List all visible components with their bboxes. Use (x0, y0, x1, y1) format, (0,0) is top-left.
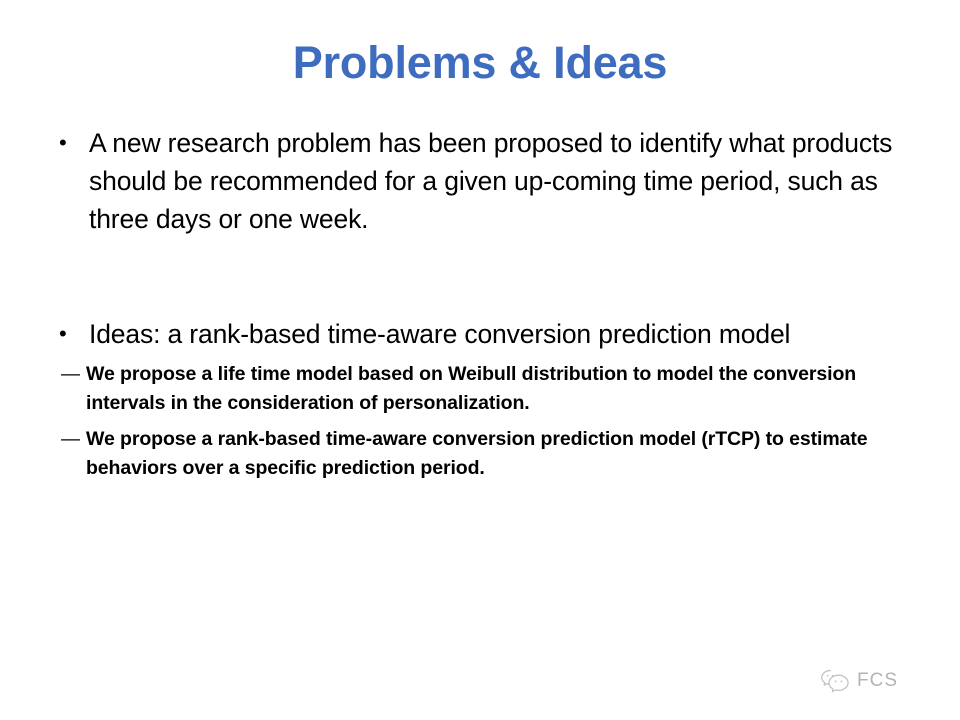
bullet-item-1: • A new research problem has been propos… (52, 124, 924, 238)
bullet-marker-icon: • (52, 124, 89, 162)
bullet-text-1: A new research problem has been proposed… (89, 124, 924, 238)
page-title: Problems & Ideas (0, 38, 960, 88)
sub-bullet-item-2: — We propose a rank-based time-aware con… (52, 425, 924, 483)
sub-bullet-text-1: We propose a life time model based on We… (86, 360, 924, 418)
sub-bullet-item-1: — We propose a life time model based on … (52, 360, 924, 418)
dash-marker-icon: — (52, 425, 86, 454)
bullet-marker-icon: • (52, 315, 89, 353)
watermark: FCS (820, 668, 898, 694)
bullet-item-2: • Ideas: a rank-based time-aware convers… (52, 315, 924, 353)
bullet-text-2: Ideas: a rank-based time-aware conversio… (89, 315, 924, 353)
bullet-content-2: Ideas: a rank-based time-aware conversio… (89, 315, 924, 353)
slide-body: • A new research problem has been propos… (52, 124, 924, 483)
sub-bullet-content-1: We propose a life time model based on We… (86, 360, 924, 418)
sub-bullet-list: — We propose a life time model based on … (52, 360, 924, 483)
sub-bullet-text-2: We propose a rank-based time-aware conve… (86, 425, 924, 483)
dash-marker-icon: — (52, 360, 86, 389)
slide-canvas: Problems & Ideas • A new research proble… (0, 0, 960, 720)
bullet-spacer (52, 238, 924, 315)
wechat-icon (820, 668, 850, 694)
watermark-label: FCS (857, 670, 898, 692)
sub-bullet-content-2: We propose a rank-based time-aware conve… (86, 425, 924, 483)
bullet-content-1: A new research problem has been proposed… (89, 124, 924, 238)
